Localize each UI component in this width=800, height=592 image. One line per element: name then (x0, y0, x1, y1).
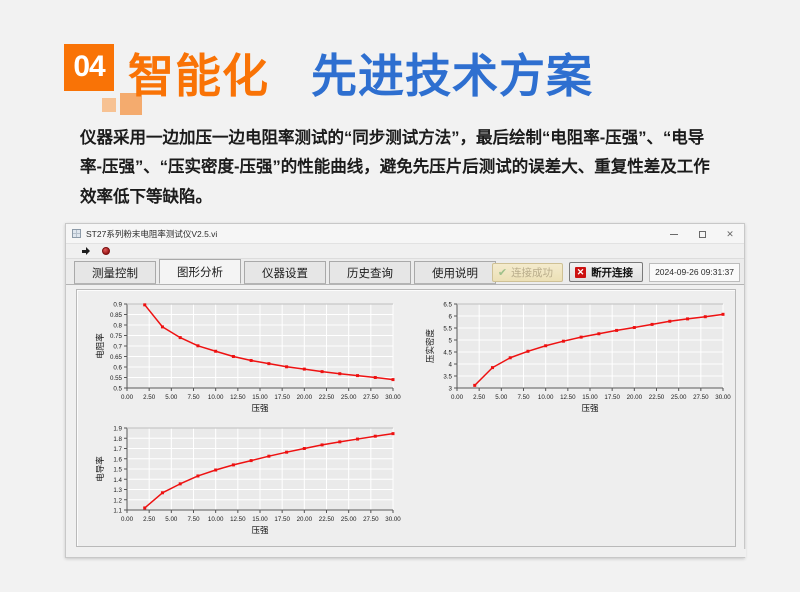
y-tick-label: 1.2 (113, 497, 122, 504)
tab-measurement-control[interactable]: 测量控制 (74, 261, 156, 284)
y-tick-label: 5.5 (443, 326, 452, 333)
data-point (303, 447, 306, 450)
data-point (473, 384, 476, 387)
tab-instrument-settings[interactable]: 仪器设置 (244, 261, 326, 284)
y-tick-label: 6.5 (443, 302, 452, 309)
x-tick-label: 20.00 (297, 516, 313, 523)
y-tick-label: 1.5 (113, 467, 122, 474)
y-tick-label: 6 (449, 314, 453, 321)
x-tick-label: 20.00 (627, 394, 643, 401)
x-tick-label: 5.00 (165, 394, 178, 401)
data-point (722, 313, 725, 316)
x-tick-label: 12.50 (560, 394, 576, 401)
data-point (392, 378, 395, 381)
x-mark-icon: ✕ (575, 267, 586, 278)
x-tick-label: 22.50 (649, 394, 665, 401)
connection-success-label: 连接成功 (511, 265, 553, 280)
page-title: 智能化 先进技术方案 (128, 42, 593, 110)
chart-svg-compaction-density: 33.544.555.566.50.002.505.007.5010.0012.… (413, 296, 731, 418)
badge-decor-square-small (102, 98, 116, 112)
x-tick-label: 17.50 (274, 394, 290, 401)
y-tick-label: 5 (449, 338, 453, 345)
tab-history-query[interactable]: 历史查询 (329, 261, 411, 284)
x-tick-label: 25.00 (341, 516, 357, 523)
x-tick-label: 0.00 (451, 394, 464, 401)
x-axis-label: 压强 (251, 403, 269, 413)
y-tick-label: 1.7 (113, 446, 122, 453)
x-tick-label: 25.00 (341, 394, 357, 401)
data-point (374, 376, 377, 379)
data-point (668, 320, 671, 323)
data-point (267, 455, 270, 458)
x-tick-label: 2.50 (473, 394, 486, 401)
graph-analysis-panel: 0.50.550.60.650.70.750.80.850.90.002.505… (76, 289, 736, 547)
y-tick-label: 1.1 (113, 508, 122, 515)
stop-button-icon[interactable] (102, 247, 110, 255)
data-point (250, 459, 253, 462)
x-tick-label: 5.00 (165, 516, 178, 523)
connection-success-indicator: ✔ 连接成功 (492, 263, 563, 282)
run-arrow-icon[interactable] (82, 247, 90, 255)
application-window: ST27系列粉末电阻率测试仪V2.5.vi ✕ 测量控制 图形分析 仪器设置 历… (65, 223, 745, 558)
check-icon: ✔ (498, 266, 507, 279)
x-axis-label: 压强 (251, 525, 269, 535)
data-point (651, 323, 654, 326)
chart-svg-resistivity: 0.50.550.60.650.70.750.80.850.90.002.505… (83, 296, 401, 418)
x-tick-label: 0.00 (121, 516, 134, 523)
description-paragraph: 仪器采用一边加压一边电阻率测试的“同步测试方法”，最后绘制“电阻率‑压强”、“电… (80, 124, 726, 212)
data-point (303, 368, 306, 371)
x-tick-label: 10.00 (208, 516, 224, 523)
chart-resistivity[interactable]: 0.50.550.60.650.70.750.80.850.90.002.505… (83, 296, 401, 418)
data-point (356, 438, 359, 441)
x-tick-label: 30.00 (385, 394, 401, 401)
slide-header: 04 智能化 先进技术方案 仪器采用一边加压一边电阻率测试的“同步测试方法”，最… (0, 0, 800, 222)
labview-vi-icon (72, 229, 81, 238)
page-title-orange: 智能化 (128, 53, 269, 99)
y-tick-label: 0.75 (110, 333, 123, 340)
x-tick-label: 12.50 (230, 516, 246, 523)
data-point (232, 463, 235, 466)
window-bottom-edge (66, 549, 746, 557)
data-point (597, 332, 600, 335)
x-tick-label: 0.00 (121, 394, 134, 401)
data-point (285, 451, 288, 454)
data-point (285, 365, 288, 368)
data-point (356, 374, 359, 377)
data-point (491, 366, 494, 369)
page-title-blue: 先进技术方案 (311, 53, 593, 99)
y-tick-label: 0.65 (110, 354, 123, 361)
tab-user-manual[interactable]: 使用说明 (414, 261, 496, 284)
y-tick-label: 3.5 (443, 374, 452, 381)
y-tick-label: 1.4 (113, 477, 122, 484)
data-point (686, 317, 689, 320)
connection-status-area: ✔ 连接成功 ✕ 断开连接 2024-09-26 09:31:37 (492, 262, 740, 282)
chart-conductivity[interactable]: 1.11.21.31.41.51.61.71.81.90.002.505.007… (83, 418, 401, 543)
data-point (580, 336, 583, 339)
x-tick-label: 30.00 (385, 516, 401, 523)
x-tick-label: 10.00 (208, 394, 224, 401)
y-tick-label: 3 (449, 386, 453, 393)
x-tick-label: 2.50 (143, 516, 156, 523)
y-tick-label: 0.8 (113, 323, 122, 330)
x-tick-label: 15.00 (252, 516, 268, 523)
tab-bar: 测量控制 图形分析 仪器设置 历史查询 使用说明 ✔ 连接成功 ✕ 断开连接 2… (66, 259, 744, 285)
window-title: ST27系列粉末电阻率测试仪V2.5.vi (86, 228, 217, 240)
y-axis-label: 电阻率 (95, 333, 105, 359)
section-number-badge: 04 (64, 44, 136, 112)
data-point (214, 350, 217, 353)
data-point (509, 356, 512, 359)
data-point (250, 359, 253, 362)
x-tick-label: 22.50 (319, 394, 335, 401)
y-axis-label: 压实密度 (425, 329, 435, 364)
data-point (615, 329, 618, 332)
tab-graph-analysis[interactable]: 图形分析 (159, 259, 241, 284)
data-point (161, 325, 164, 328)
x-tick-label: 20.00 (297, 394, 313, 401)
data-point (196, 474, 199, 477)
data-point (321, 443, 324, 446)
badge-number: 04 (64, 44, 114, 91)
data-point (526, 350, 529, 353)
x-tick-label: 27.50 (693, 394, 709, 401)
x-tick-label: 7.50 (187, 394, 200, 401)
y-tick-label: 0.5 (113, 386, 122, 393)
data-point (338, 372, 341, 375)
data-point (321, 370, 324, 373)
y-tick-label: 1.6 (113, 456, 122, 463)
chart-compaction-density[interactable]: 33.544.555.566.50.002.505.007.5010.0012.… (413, 296, 731, 418)
data-point (179, 482, 182, 485)
window-titlebar[interactable]: ST27系列粉末电阻率测试仪V2.5.vi ✕ (66, 224, 744, 244)
x-tick-label: 7.50 (187, 516, 200, 523)
y-tick-label: 0.6 (113, 365, 122, 372)
y-tick-label: 0.85 (110, 312, 123, 319)
data-point (161, 491, 164, 494)
x-tick-label: 2.50 (143, 394, 156, 401)
data-point (267, 362, 270, 365)
disconnect-button[interactable]: ✕ 断开连接 (569, 262, 643, 282)
data-point (196, 344, 199, 347)
x-tick-label: 22.50 (319, 516, 335, 523)
x-tick-label: 17.50 (274, 516, 290, 523)
y-tick-label: 0.55 (110, 375, 123, 382)
data-point (374, 435, 377, 438)
x-tick-label: 27.50 (363, 516, 379, 523)
labview-run-toolbar (66, 244, 744, 259)
data-point (704, 315, 707, 318)
data-point (562, 340, 565, 343)
y-tick-label: 1.3 (113, 487, 122, 494)
data-point (143, 506, 146, 509)
x-tick-label: 27.50 (363, 394, 379, 401)
x-tick-label: 7.50 (517, 394, 530, 401)
minimize-button[interactable] (660, 224, 688, 244)
x-tick-label: 12.50 (230, 394, 246, 401)
disconnect-label: 断开连接 (591, 265, 633, 280)
data-point (232, 355, 235, 358)
data-point (338, 440, 341, 443)
timestamp-display: 2024-09-26 09:31:37 (649, 263, 740, 282)
x-tick-label: 5.00 (495, 394, 508, 401)
y-tick-label: 4 (449, 362, 453, 369)
y-tick-label: 4.5 (443, 350, 452, 357)
data-point (544, 344, 547, 347)
data-point (214, 469, 217, 472)
x-tick-label: 25.00 (671, 394, 687, 401)
data-point (633, 326, 636, 329)
data-point (143, 303, 146, 306)
x-tick-label: 17.50 (604, 394, 620, 401)
y-axis-label: 电导率 (95, 456, 105, 482)
x-tick-label: 15.00 (252, 394, 268, 401)
x-tick-label: 30.00 (715, 394, 731, 401)
x-tick-label: 15.00 (582, 394, 598, 401)
x-axis-label: 压强 (581, 403, 599, 413)
y-tick-label: 1.8 (113, 436, 122, 443)
maximize-button[interactable] (688, 224, 716, 244)
close-icon[interactable]: ✕ (716, 224, 744, 244)
data-point (179, 336, 182, 339)
y-tick-label: 1.9 (113, 426, 122, 433)
y-tick-label: 0.9 (113, 302, 122, 309)
window-controls: ✕ (660, 224, 744, 244)
data-point (392, 432, 395, 435)
chart-svg-conductivity: 1.11.21.31.41.51.61.71.81.90.002.505.007… (83, 418, 401, 543)
y-tick-label: 0.7 (113, 344, 122, 351)
x-tick-label: 10.00 (538, 394, 554, 401)
